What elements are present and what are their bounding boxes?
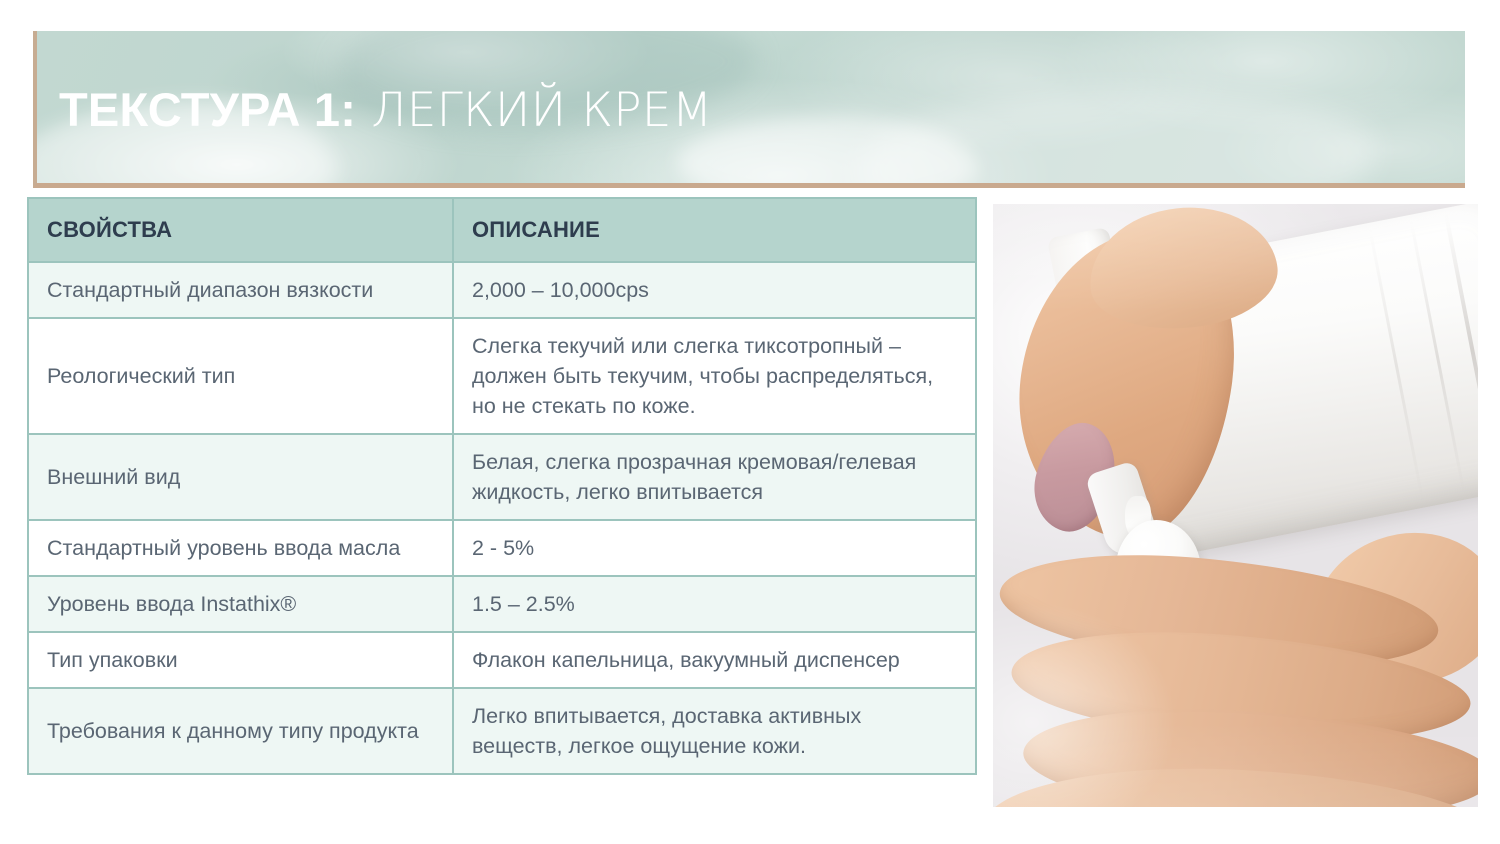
table-row: Требования к данному типу продукта Легко… <box>28 688 976 774</box>
table-header-row: СВОЙСТВА ОПИСАНИЕ <box>28 198 976 262</box>
bottle-rib <box>1368 229 1424 502</box>
column-header-description: ОПИСАНИЕ <box>453 198 976 262</box>
page-title: ТЕКСТУРА 1: ЛЕГКИЙ КРЕМ <box>59 81 712 140</box>
specification-table: СВОЙСТВА ОПИСАНИЕ Стандартный диапазон в… <box>27 197 977 775</box>
table-row: Уровень ввода Instathix® 1.5 – 2.5% <box>28 576 976 632</box>
header-banner: ТЕКСТУРА 1: ЛЕГКИЙ КРЕМ <box>33 31 1465 188</box>
table-row: Стандартный диапазон вязкости 2,000 – 10… <box>28 262 976 318</box>
table-row: Реологический тип Слегка текучий или сле… <box>28 318 976 434</box>
page-title-light: ЛЕГКИЙ КРЕМ <box>356 83 712 138</box>
table-row: Тип упаковки Флакон капельница, вакуумны… <box>28 632 976 688</box>
cell-property: Уровень ввода Instathix® <box>28 576 453 632</box>
bottle-rib <box>1444 214 1478 488</box>
cell-description: 2 - 5% <box>453 520 976 576</box>
page-title-bold: ТЕКСТУРА 1: <box>59 83 356 136</box>
cell-description: Белая, слегка прозрачная кремовая/гелева… <box>453 434 976 520</box>
table-row: Стандартный уровень ввода масла 2 - 5% <box>28 520 976 576</box>
cell-description: 1.5 – 2.5% <box>453 576 976 632</box>
cell-property: Тип упаковки <box>28 632 453 688</box>
cell-property: Внешний вид <box>28 434 453 520</box>
photo-illustration <box>993 204 1478 807</box>
cell-description: Флакон капельница, вакуумный диспенсер <box>453 632 976 688</box>
table-header: СВОЙСТВА ОПИСАНИЕ <box>28 198 976 262</box>
column-header-properties: СВОЙСТВА <box>28 198 453 262</box>
cell-property: Требования к данному типу продукта <box>28 688 453 774</box>
cell-description: Легко впитывается, доставка активных вещ… <box>453 688 976 774</box>
cell-description: Слегка текучий или слегка тиксотропный –… <box>453 318 976 434</box>
table-row: Внешний вид Белая, слегка прозрачная кре… <box>28 434 976 520</box>
cell-property: Реологический тип <box>28 318 453 434</box>
cell-description: 2,000 – 10,000cps <box>453 262 976 318</box>
product-photo <box>993 204 1478 807</box>
slide-root: ТЕКСТУРА 1: ЛЕГКИЙ КРЕМ СВОЙСТВА ОПИСАНИ… <box>0 0 1500 844</box>
cell-property: Стандартный диапазон вязкости <box>28 262 453 318</box>
table-body: Стандартный диапазон вязкости 2,000 – 10… <box>28 262 976 774</box>
cell-property: Стандартный уровень ввода масла <box>28 520 453 576</box>
